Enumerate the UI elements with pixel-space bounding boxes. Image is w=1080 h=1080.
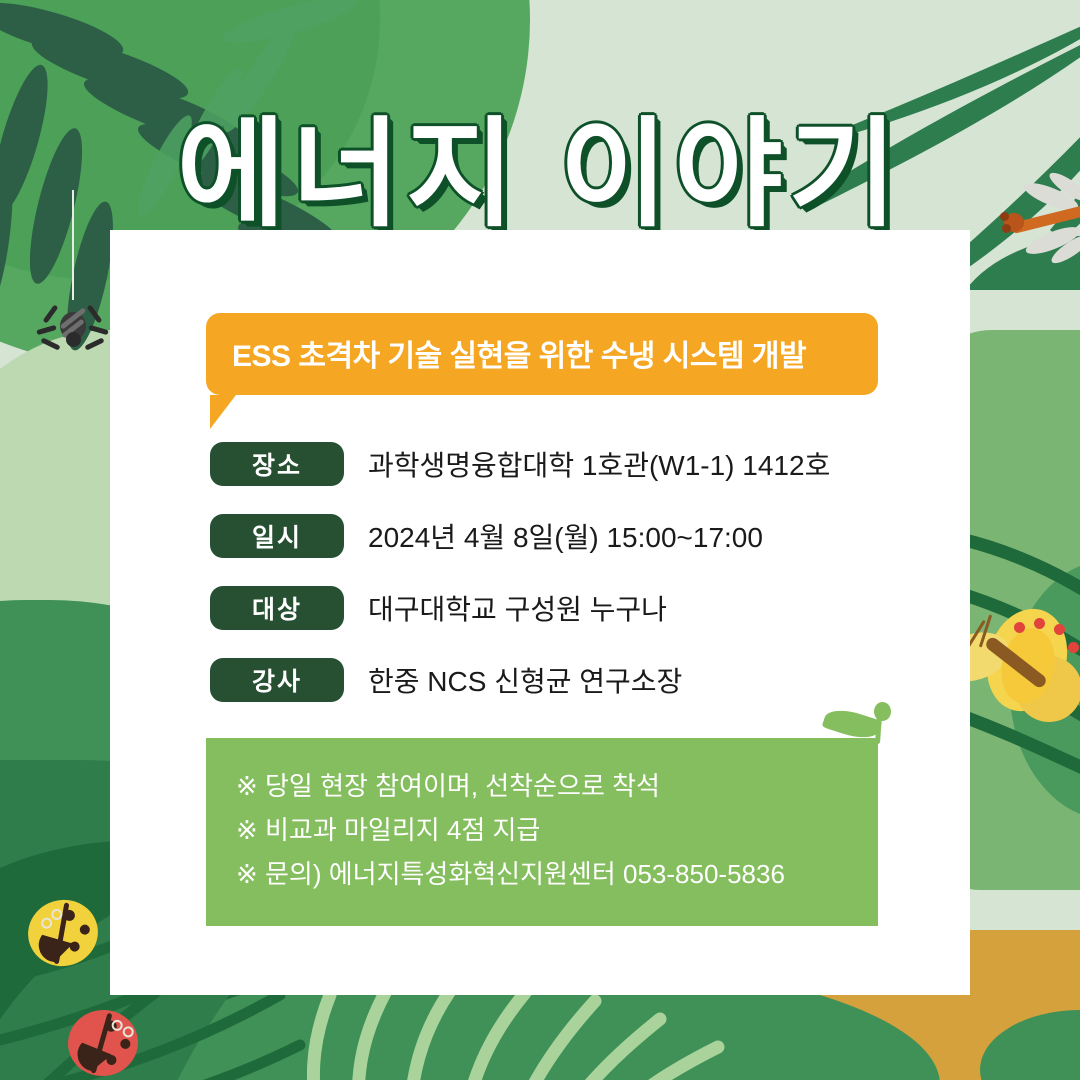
banner-tail	[210, 395, 236, 429]
spider-icon	[44, 298, 102, 354]
content-card: ESS 초격차 기술 실현을 위한 수냉 시스템 개발 장소 과학생명융합대학 …	[110, 230, 970, 995]
notes-box: ※ 당일 현장 참여이며, 선착순으로 착석 ※ 비교과 마일리지 4점 지급 …	[206, 738, 878, 926]
info-label-location: 장소	[210, 442, 344, 486]
info-value-audience: 대구대학교 구성원 누구나	[368, 588, 667, 628]
poster: 에너지 이야기 ESS 초격차 기술 실현을 위한 수냉 시스템 개발 장소 과…	[0, 0, 1080, 1080]
info-list: 장소 과학생명융합대학 1호관(W1-1) 1412호 일시 2024년 4월 …	[210, 442, 910, 730]
info-label-speaker: 강사	[210, 658, 344, 702]
info-value-speaker: 한중 NCS 신형균 연구소장	[368, 660, 682, 700]
poster-title: 에너지 이야기	[0, 78, 1080, 249]
ladybug-red-icon	[64, 1005, 143, 1080]
info-label-audience: 대상	[210, 586, 344, 630]
leaf-veins-bottom-icon	[250, 985, 790, 1080]
note-line-2: ※ 비교과 마일리지 4점 지급	[236, 808, 848, 852]
info-value-location: 과학생명융합대학 1호관(W1-1) 1412호	[368, 444, 830, 484]
info-row-speaker: 강사 한중 NCS 신형균 연구소장	[210, 658, 910, 702]
info-value-datetime: 2024년 4월 8일(월) 15:00~17:00	[368, 516, 763, 556]
session-title-banner: ESS 초격차 기술 실현을 위한 수냉 시스템 개발	[206, 313, 878, 395]
info-label-datetime: 일시	[210, 514, 344, 558]
banner-wrapper: ESS 초격차 기술 실현을 위한 수냉 시스템 개발	[206, 313, 878, 395]
info-row-datetime: 일시 2024년 4월 8일(월) 15:00~17:00	[210, 514, 910, 558]
info-row-location: 장소 과학생명융합대학 1호관(W1-1) 1412호	[210, 442, 910, 486]
info-row-audience: 대상 대구대학교 구성원 누구나	[210, 586, 910, 630]
session-title-text: ESS 초격차 기술 실현을 위한 수냉 시스템 개발	[232, 331, 852, 375]
note-line-1: ※ 당일 현장 참여이며, 선착순으로 착석	[236, 764, 848, 808]
note-line-3: ※ 문의) 에너지특성화혁신지원센터 053-850-5836	[236, 852, 848, 896]
